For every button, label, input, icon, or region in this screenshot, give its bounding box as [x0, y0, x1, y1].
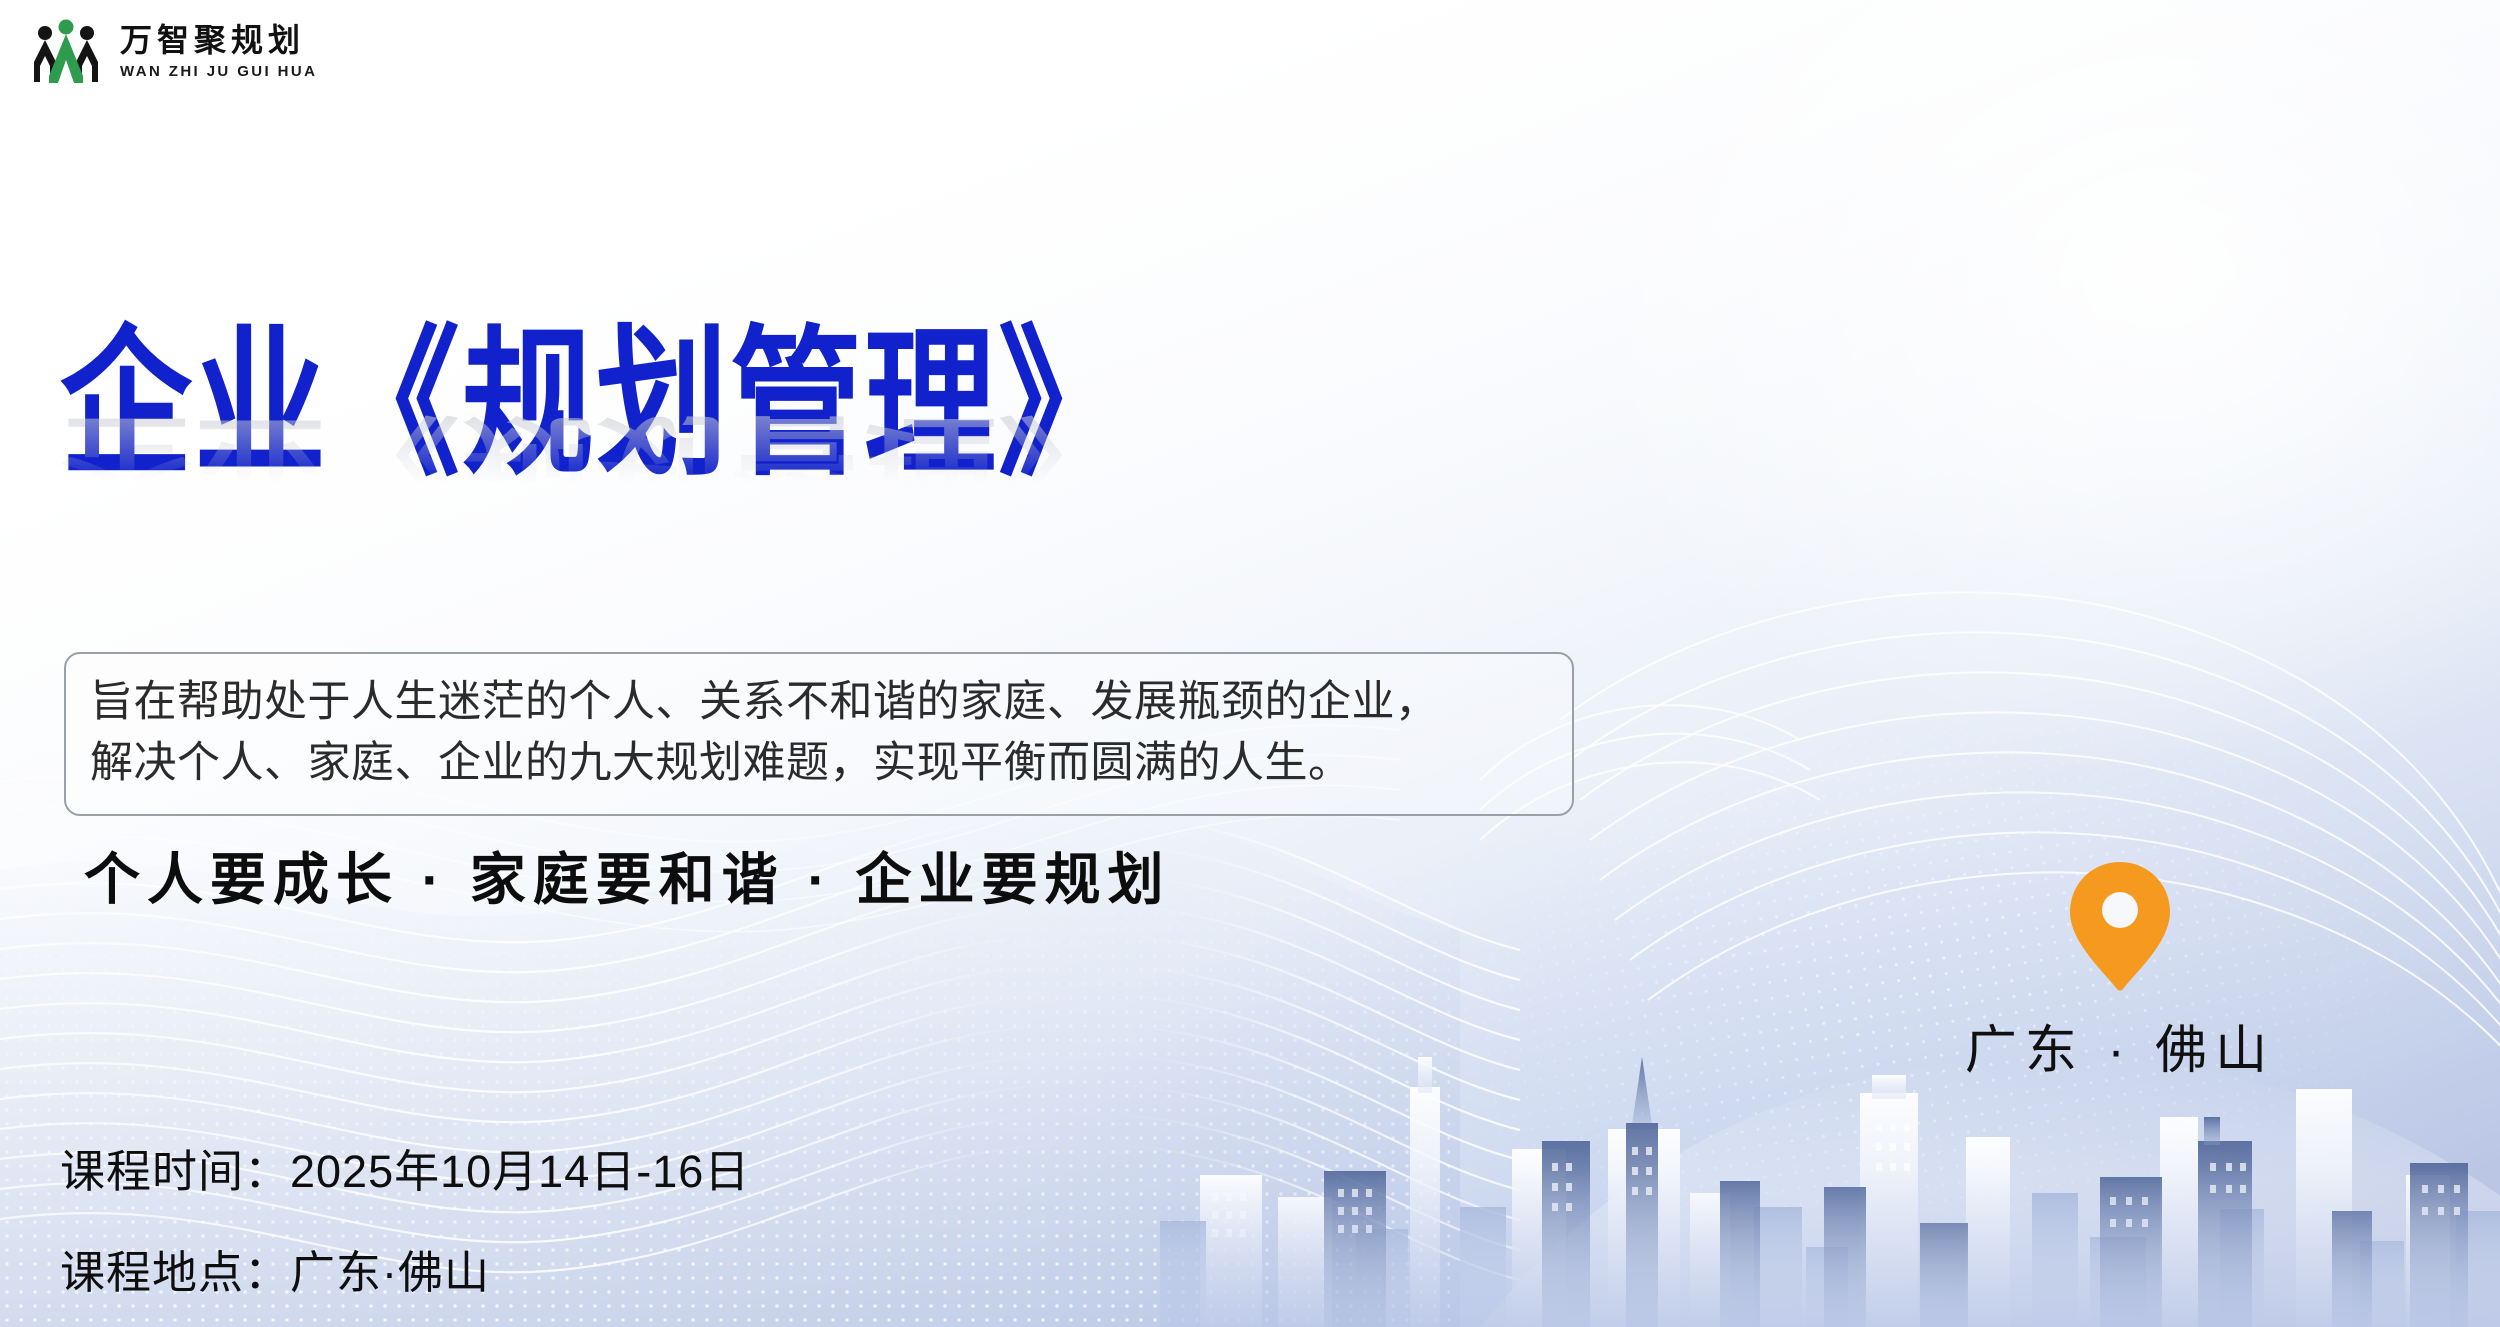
three-people-logo-icon — [28, 16, 104, 86]
map-pin-icon — [2068, 860, 2172, 992]
location-label: 广东 · 佛山 — [1955, 1008, 2285, 1083]
brand-logo: 万智聚规划 WAN ZHI JU GUI HUA — [28, 16, 317, 86]
course-place: 课程地点：广东·佛山 — [60, 1236, 750, 1301]
description-box: 旨在帮助处于人生迷茫的个人、关系不和谐的家庭、发展瓶颈的企业， 解决个人、家庭、… — [64, 652, 1574, 816]
description-line-1: 旨在帮助处于人生迷茫的个人、关系不和谐的家庭、发展瓶颈的企业， — [90, 672, 1550, 733]
ambient-glow-top-right — [1560, 0, 2500, 780]
brand-name-en: WAN ZHI JU GUI HUA — [120, 64, 317, 79]
city-skyline-icon — [1160, 997, 2500, 1327]
description-line-2: 解决个人、家庭、企业的九大规划难题，实现平衡而圆满的人生。 — [90, 733, 1550, 794]
page-title-reflection: 企业《规划管理》 — [60, 408, 1132, 496]
course-info-block: 课程时间：2025年10月14日-16日 课程地点：广东·佛山 — [60, 1135, 750, 1301]
course-time: 课程时间：2025年10月14日-16日 — [60, 1135, 750, 1200]
brand-name-cn: 万智聚规划 — [120, 24, 317, 56]
poster-canvas: 万智聚规划 WAN ZHI JU GUI HUA 企业《规划管理》 企业《规划管… — [0, 0, 2500, 1327]
hero-title-block: 企业《规划管理》 企业《规划管理》 — [60, 318, 1132, 461]
location-block: 广东 · 佛山 — [1955, 860, 2285, 1083]
slogan-text: 个人要成长 · 家庭要和谐 · 企业要规划 — [84, 835, 1171, 916]
